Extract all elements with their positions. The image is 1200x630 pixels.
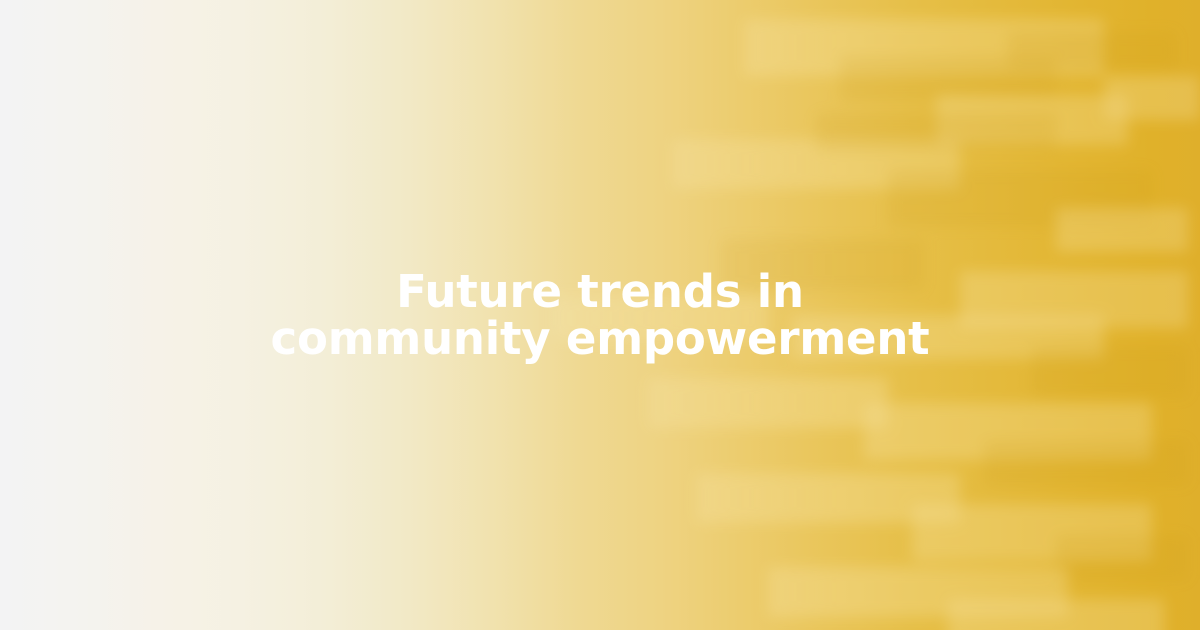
background-streak: [1056, 536, 1188, 580]
background-streak: [948, 599, 1164, 630]
page-title: Future trends in community empowerment: [260, 268, 940, 362]
background-streak: [1104, 76, 1200, 120]
headline-line-1: Future trends in: [396, 265, 804, 318]
background-streak: [816, 113, 1056, 151]
hero-banner: Future trends in community empowerment: [0, 0, 1200, 630]
background-streak: [1056, 208, 1188, 252]
background-streak: [648, 378, 888, 428]
background-streak: [984, 441, 1188, 485]
headline-line-2: community empowerment: [271, 312, 930, 365]
background-streak: [1008, 32, 1176, 70]
headline-container: Future trends in community empowerment: [0, 268, 1200, 362]
